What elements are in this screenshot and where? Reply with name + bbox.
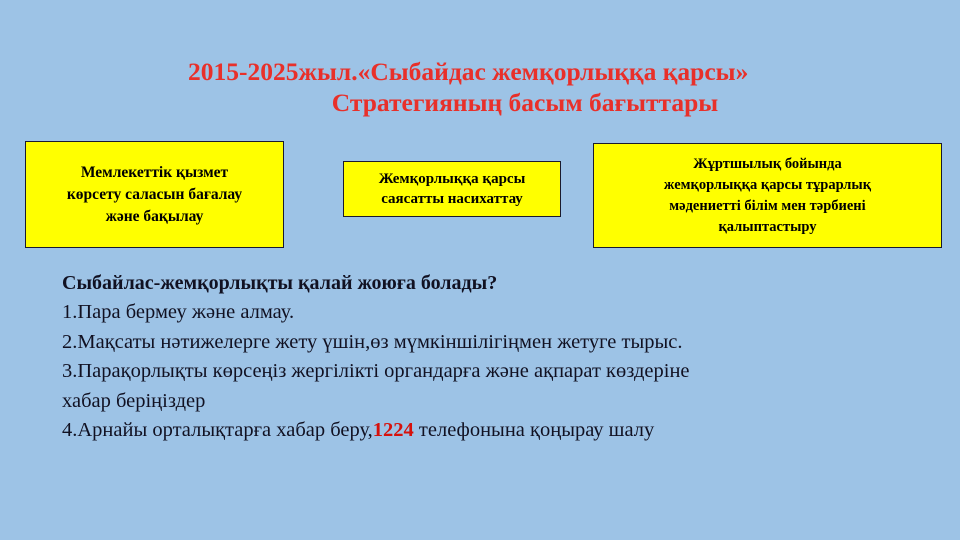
- title-line-1: 2015-2025жыл.«Сыбайдас жемқорлыққа қарсы…: [188, 56, 850, 87]
- body-item-4-prefix: 4.Арнайы орталықтарға хабар беру,: [62, 419, 373, 441]
- slide-title: 2015-2025жыл.«Сыбайдас жемқорлыққа қарсы…: [150, 56, 850, 118]
- strategy-box-3-line-1: Жұртшылық бойында: [600, 154, 935, 175]
- strategy-box-1-line-3: және бақылау: [32, 206, 277, 228]
- strategy-box-3: Жұртшылық бойында жемқорлыққа қарсы тұра…: [593, 143, 942, 248]
- body-item-4-suffix: телефонына қоңырау шалу: [414, 419, 654, 441]
- strategy-box-1-line-1: Мемлекеттік қызмет: [32, 162, 277, 184]
- strategy-box-2: Жемқорлыққа қарсы саясатты насихаттау: [343, 161, 561, 217]
- body-item-1: 1.Пара бермеу және алмау.: [62, 298, 722, 328]
- body-text-block: Сыбайлас-жемқорлықты қалай жоюға болады?…: [62, 268, 782, 446]
- strategy-box-3-line-4: қалыптастыру: [600, 217, 935, 238]
- strategy-box-3-line-2: жемқорлыққа қарсы тұрарлық: [600, 175, 935, 196]
- strategy-box-3-text: Жұртшылық бойында жемқорлыққа қарсы тұра…: [594, 154, 941, 238]
- body-item-2: 2.Мақсаты нәтижелерге жету үшін,өз мүмкі…: [62, 328, 722, 358]
- strategy-box-3-line-3: мәдениетті білім мен тәрбиені: [600, 196, 935, 217]
- body-item-3: 3.Парақорлықты көрсеңіз жергілікті орган…: [62, 357, 722, 416]
- body-item-4: 4.Арнайы орталықтарға хабар беру,1224 те…: [62, 416, 722, 446]
- strategy-box-1: Мемлекеттік қызмет көрсету саласын бағал…: [25, 141, 284, 248]
- body-heading: Сыбайлас-жемқорлықты қалай жоюға болады?: [62, 268, 782, 298]
- title-line-2: Стратегияның басым бағыттары: [200, 87, 850, 118]
- strategy-box-2-line-2: саясатты насихаттау: [350, 189, 554, 209]
- strategy-box-1-line-2: көрсету саласын бағалау: [32, 184, 277, 206]
- strategy-box-2-line-1: Жемқорлыққа қарсы: [350, 169, 554, 189]
- slide-canvas: 2015-2025жыл.«Сыбайдас жемқорлыққа қарсы…: [0, 0, 960, 540]
- strategy-box-1-text: Мемлекеттік қызмет көрсету саласын бағал…: [26, 162, 283, 228]
- strategy-box-2-text: Жемқорлыққа қарсы саясатты насихаттау: [344, 169, 560, 209]
- corruption-hotline-number: 1224: [373, 419, 414, 441]
